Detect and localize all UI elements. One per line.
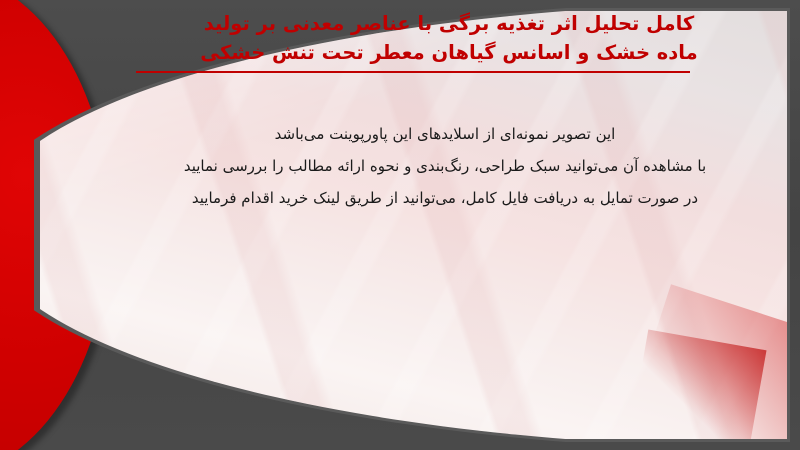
slide-title-line-1: کامل تحلیل اثر تغذیه برگی با عناصر معدنی…	[120, 9, 778, 38]
slide-title: کامل تحلیل اثر تغذیه برگی با عناصر معدنی…	[120, 9, 778, 67]
slide-body-line-3: در صورت تمایل به دریافت فایل کامل، می‌تو…	[120, 182, 770, 214]
slide-content: کامل تحلیل اثر تغذیه برگی با عناصر معدنی…	[0, 0, 800, 450]
slide-body-line-2: با مشاهده آن می‌توانید سبک طراحی، رنگ‌بن…	[120, 150, 770, 182]
slide-title-line-2: ماده خشک و اسانس گیاهان معطر تحت تنش خشک…	[120, 38, 778, 67]
title-underline	[136, 71, 690, 73]
slide-canvas: کامل تحلیل اثر تغذیه برگی با عناصر معدنی…	[0, 0, 800, 450]
slide-body-line-1: این تصویر نمونه‌ای از اسلایدهای این پاور…	[120, 118, 770, 150]
slide-body-text: این تصویر نمونه‌ای از اسلایدهای این پاور…	[120, 118, 770, 214]
